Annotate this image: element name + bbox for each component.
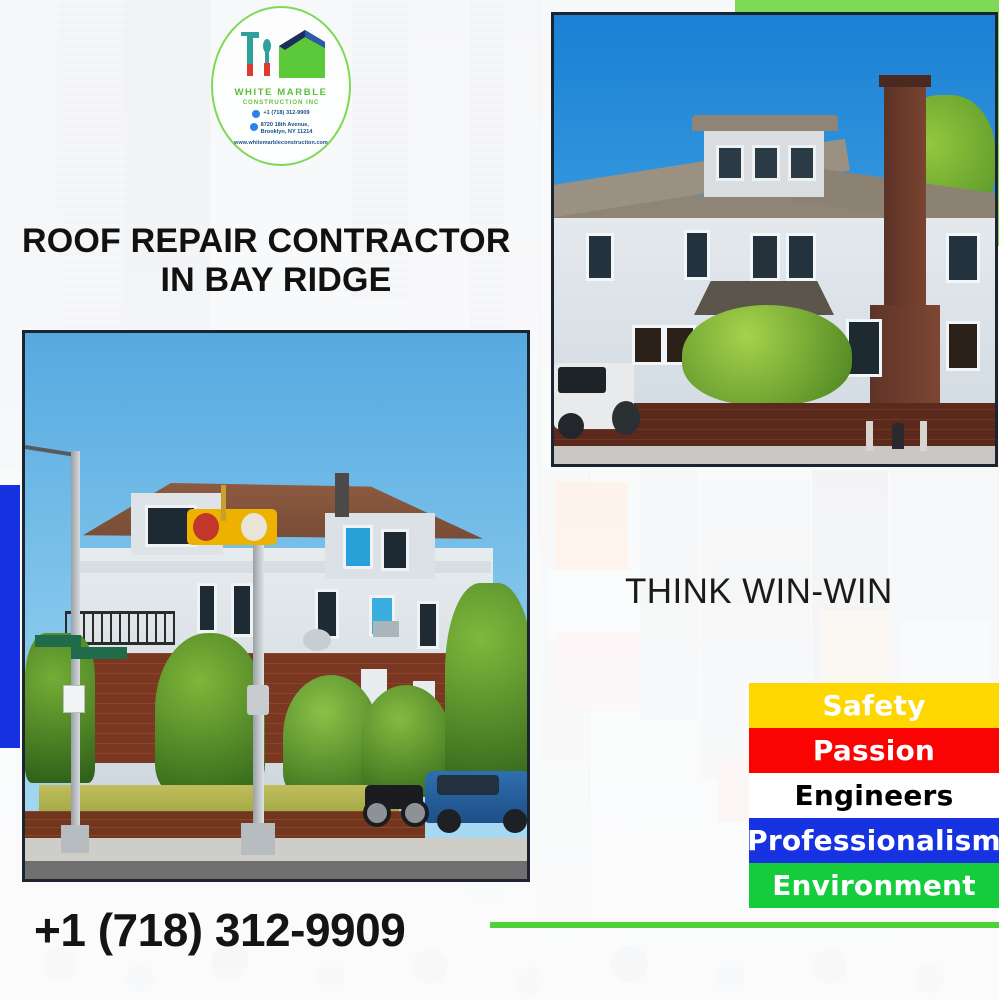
photo-dormer-window xyxy=(716,145,744,181)
photo-vehicle-wheel xyxy=(612,401,640,435)
photo-satellite-dish xyxy=(303,629,331,651)
value-bar-professionalism: Professionalism xyxy=(749,818,999,863)
logo-address-row: 8720 18th Avenue, Brooklyn, NY 11214 xyxy=(250,122,313,136)
photo-pedestrian-signal xyxy=(247,685,269,715)
photo-regulatory-sign xyxy=(63,685,85,713)
logo-address-text: 8720 18th Avenue, Brooklyn, NY 11214 xyxy=(261,122,313,136)
logo-company-name: WHITE MARBLE xyxy=(234,88,327,98)
photo-window xyxy=(750,233,780,281)
headline-line-1: ROOF REPAIR CONTRACTOR xyxy=(22,222,530,261)
photo-vehicle-wheel xyxy=(558,413,584,439)
photo-window xyxy=(197,583,217,633)
photo-traffic-signal-base xyxy=(241,823,275,855)
photo-road xyxy=(25,861,530,879)
photo-dormer xyxy=(325,513,435,579)
phone-cta[interactable]: +1 (718) 312-9909 xyxy=(34,903,405,957)
photo-motorcycle-wheel xyxy=(363,799,391,827)
value-label: Engineers xyxy=(795,779,954,812)
value-label: Safety xyxy=(822,689,925,722)
value-bar-passion: Passion xyxy=(749,728,999,773)
logo-website[interactable]: www.whitemarbleconstruction.com xyxy=(234,140,328,146)
photo-traffic-signal-lens xyxy=(241,513,267,541)
location-pin-icon xyxy=(250,123,258,131)
photo-window xyxy=(946,233,980,283)
logo-phone-text: +1 (718) 312-9909 xyxy=(263,110,309,117)
photo-window xyxy=(632,325,664,365)
photo-chimney xyxy=(335,473,349,517)
photo-dormer-window xyxy=(343,525,373,569)
photo-sidewalk xyxy=(554,446,998,464)
photo-window xyxy=(684,230,710,280)
value-label: Environment xyxy=(772,869,976,902)
company-logo-badge[interactable]: WHITE MARBLE CONSTRUCTION INC +1 (718) 3… xyxy=(211,6,351,166)
page-title: ROOF REPAIR CONTRACTOR IN BAY RIDGE xyxy=(22,222,530,300)
value-label: Passion xyxy=(813,734,935,767)
photo-vehicle-wheel xyxy=(437,809,461,833)
photo-dormer-window xyxy=(788,145,816,181)
top-green-bar xyxy=(735,0,999,12)
value-label: Professionalism xyxy=(747,824,999,857)
photo-dormer-window xyxy=(752,145,780,181)
roof-photo-left xyxy=(22,330,530,882)
logo-address-line1: 8720 18th Avenue, xyxy=(261,122,309,128)
left-blue-bar xyxy=(0,485,20,748)
photo-shrub xyxy=(445,583,530,803)
photo-vehicle-wheel xyxy=(503,809,527,833)
value-bar-safety: Safety xyxy=(749,683,999,728)
value-bar-engineers: Engineers xyxy=(749,773,999,818)
photo-window xyxy=(417,601,439,649)
photo-bollard xyxy=(866,421,873,451)
photo-dormer-window xyxy=(381,529,409,571)
core-values-list: Safety Passion Engineers Professionalism… xyxy=(749,683,999,908)
phone-icon xyxy=(252,110,260,118)
bottom-green-line xyxy=(490,922,999,928)
value-bar-environment: Environment xyxy=(749,863,999,908)
tagline: THINK WIN-WIN xyxy=(625,572,893,612)
headline-line-2: IN BAY RIDGE xyxy=(22,261,530,300)
photo-streetlight-base xyxy=(61,825,89,853)
photo-street-sign xyxy=(35,635,81,647)
logo-address-line2: Brooklyn, NY 11214 xyxy=(261,129,313,135)
photo-vehicle-window xyxy=(437,775,499,795)
photo-bollard xyxy=(920,421,927,451)
photo-window xyxy=(586,233,614,281)
photo-traffic-signal-mast xyxy=(221,485,226,521)
hammer-screwdriver-house-icon xyxy=(233,26,329,84)
photo-dormer-roof xyxy=(692,115,838,131)
photo-motorcycle-wheel xyxy=(401,799,429,827)
photo-hydrant xyxy=(892,423,904,449)
photo-chimney-cap xyxy=(879,75,931,87)
photo-window xyxy=(231,583,253,637)
photo-vehicle-window xyxy=(558,367,606,393)
photo-ac-unit xyxy=(373,621,399,637)
photo-street-sign xyxy=(71,647,127,659)
logo-phone-row[interactable]: +1 (718) 312-9909 xyxy=(252,110,309,119)
roof-photo-top-right xyxy=(551,12,998,467)
logo-company-suffix: CONSTRUCTION INC xyxy=(243,99,320,106)
photo-window xyxy=(946,321,980,371)
photo-tree xyxy=(682,305,852,405)
photo-window xyxy=(786,233,816,281)
photo-traffic-signal-lens xyxy=(193,513,219,541)
